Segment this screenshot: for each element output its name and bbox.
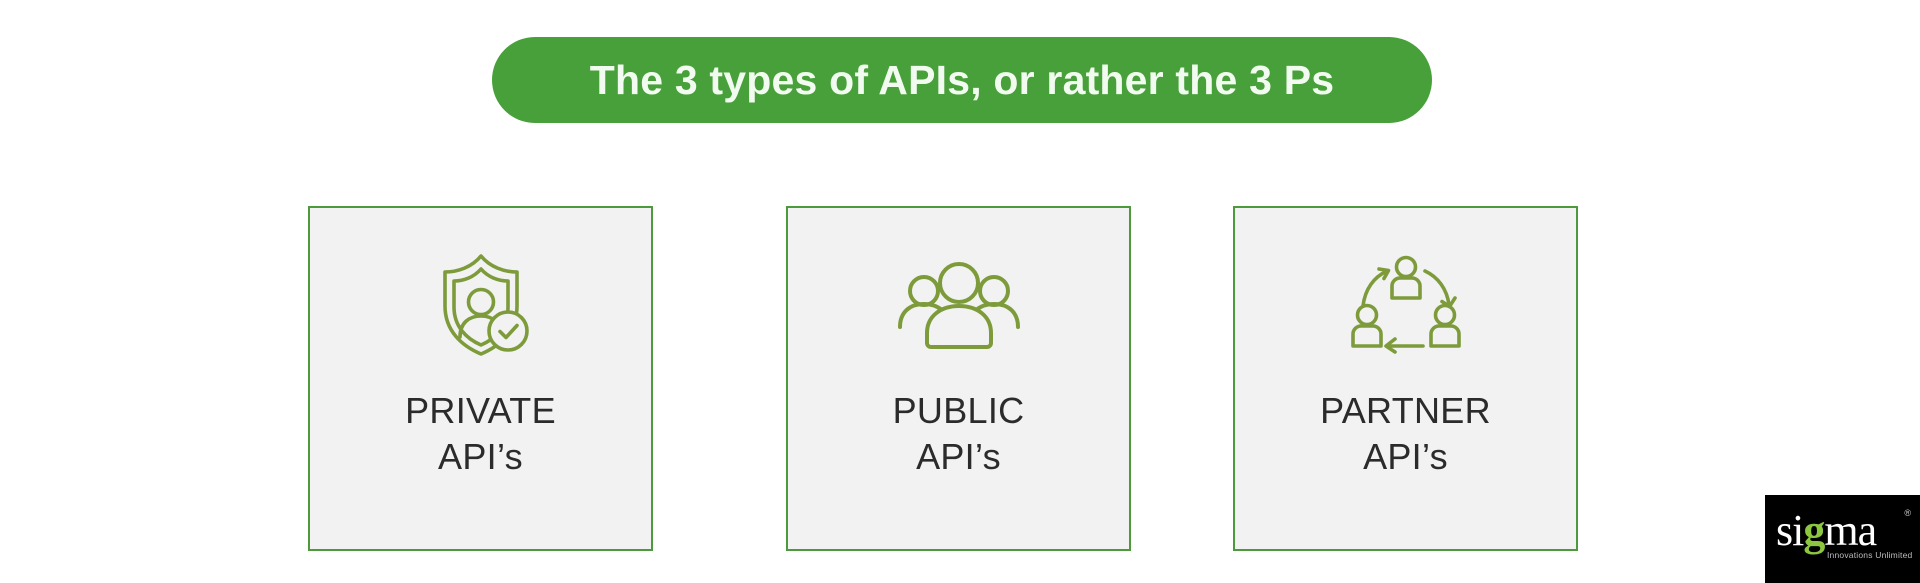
sigma-logo-name-g: g [1803,506,1824,555]
sigma-logo-name-before: si [1776,506,1803,555]
card-label-line1: PUBLIC [893,390,1025,431]
page-title: The 3 types of APIs, or rather the 3 Ps [590,60,1335,101]
registered-trademark-mark: ® [1904,509,1911,518]
sigma-logo-tagline: Innovations Unlimited [1827,550,1912,560]
title-banner: The 3 types of APIs, or rather the 3 Ps [492,37,1432,123]
card-label: PUBLIC API’s [893,388,1025,480]
card-public-api[interactable]: PUBLIC API’s [786,206,1131,551]
card-label-line1: PRIVATE [405,390,556,431]
sigma-logo-inner: sigma ® Innovations Unlimited [1765,495,1920,583]
card-partner-api[interactable]: PARTNER API’s [1233,206,1578,551]
sigma-logo-wordmark: sigma [1776,509,1876,553]
card-private-api[interactable]: PRIVATE API’s [308,206,653,551]
partner-network-cycle-icon [1341,250,1471,360]
card-label: PRIVATE API’s [405,388,556,480]
card-label-line1: PARTNER [1320,390,1491,431]
card-label-line2: API’s [893,434,1025,480]
card-label: PARTNER API’s [1320,388,1491,480]
card-label-line2: API’s [1320,434,1491,480]
card-label-line2: API’s [405,434,556,480]
shield-person-check-icon [416,250,546,360]
three-people-group-icon [894,250,1024,360]
sigma-logo-name-after: ma [1824,506,1876,555]
sigma-logo: sigma ® Innovations Unlimited [1765,495,1920,583]
api-types-cards: PRIVATE API’s PUBLIC API’s [0,206,1920,551]
